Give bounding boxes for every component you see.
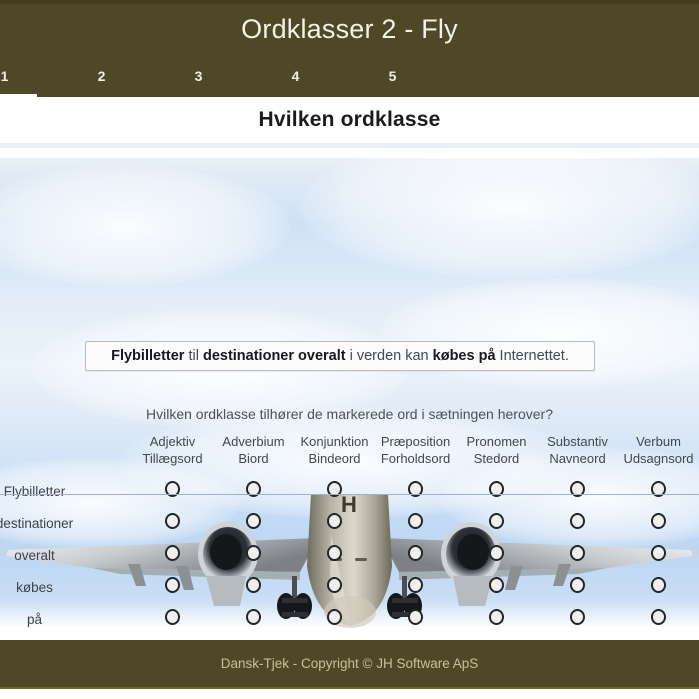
row-label-overalt: overalt — [0, 539, 132, 571]
radio-overalt-konjunktion[interactable] — [327, 545, 342, 561]
tab-3[interactable]: 3 — [150, 64, 247, 97]
radio-destinationer-substantiv[interactable] — [570, 513, 585, 529]
radio-destinationer-konjunktion[interactable] — [327, 513, 342, 529]
answer-cell[interactable] — [213, 571, 294, 603]
marked-word: destinationer overalt — [203, 348, 346, 364]
radio-købes-verbum[interactable] — [651, 577, 666, 593]
stage-bottom-strip — [0, 628, 699, 640]
answer-cell[interactable] — [375, 571, 456, 603]
answer-table-body: Flybilletterdestinationeroveraltkøbespå — [0, 475, 699, 628]
tab-2[interactable]: 2 — [53, 64, 150, 97]
column-header-danish: Tillægsord — [132, 450, 213, 467]
tab-1[interactable]: 1 — [0, 64, 53, 97]
tab-5[interactable]: 5 — [344, 64, 441, 97]
column-header-danish: Biord — [213, 450, 294, 467]
copyright-text: Dansk-Tjek - Copyright © JH Software ApS — [221, 656, 479, 671]
column-header-danish: Bindeord — [294, 450, 375, 467]
answer-cell[interactable] — [294, 571, 375, 603]
answer-cell[interactable] — [618, 539, 699, 571]
radio-destinationer-pronomen[interactable] — [489, 513, 504, 529]
column-header-adverbium: AdverbiumBiord — [213, 433, 294, 475]
radio-købes-substantiv[interactable] — [570, 577, 585, 593]
answer-table: AdjektivTillægsordAdverbiumBiordKonjunkt… — [0, 433, 699, 628]
answer-cell[interactable] — [537, 475, 618, 507]
column-header-konjunktion: KonjunktionBindeord — [294, 433, 375, 475]
answer-cell[interactable] — [213, 539, 294, 571]
matrix-bottom-rule — [0, 494, 699, 495]
column-header-latin: Verbum — [618, 433, 699, 450]
app-window: Ordklasser 2 - Fly 12345 Hvilken ordklas… — [0, 0, 699, 699]
cloud-decoration — [380, 278, 699, 388]
radio-destinationer-verbum[interactable] — [651, 513, 666, 529]
answer-cell[interactable] — [618, 603, 699, 628]
answer-cell[interactable] — [618, 475, 699, 507]
answer-cell[interactable] — [456, 539, 537, 571]
section-title: Hvilken ordklasse — [259, 108, 441, 132]
column-header-adjektiv: AdjektivTillægsord — [132, 433, 213, 475]
answer-cell[interactable] — [294, 475, 375, 507]
answer-cell[interactable] — [618, 507, 699, 539]
marked-word: købes på — [433, 348, 496, 364]
answer-table-head: AdjektivTillægsordAdverbiumBiordKonjunkt… — [0, 433, 699, 475]
tab-bar: 12345 — [0, 64, 441, 97]
answer-cell[interactable] — [537, 571, 618, 603]
radio-destinationer-præposition[interactable] — [408, 513, 423, 529]
answer-cell[interactable] — [456, 475, 537, 507]
radio-købes-konjunktion[interactable] — [327, 577, 342, 593]
column-header-verbum: VerbumUdsagnsord — [618, 433, 699, 475]
sentence-box: Flybilletter til destinationer overalt i… — [85, 341, 595, 371]
answer-matrix: AdjektivTillægsordAdverbiumBiordKonjunkt… — [0, 433, 699, 628]
answer-cell[interactable] — [375, 539, 456, 571]
column-header-latin: Adjektiv — [132, 433, 213, 450]
row-label-på: på — [0, 603, 132, 628]
tab-4[interactable]: 4 — [247, 64, 344, 97]
app-footer: Dansk-Tjek - Copyright © JH Software ApS — [0, 640, 699, 687]
row-label-købes: købes — [0, 571, 132, 603]
answer-cell[interactable] — [213, 603, 294, 628]
answer-cell[interactable] — [213, 475, 294, 507]
answer-cell[interactable] — [456, 571, 537, 603]
app-header: Ordklasser 2 - Fly 12345 — [0, 0, 699, 97]
column-header-latin: Adverbium — [213, 433, 294, 450]
radio-overalt-adverbium[interactable] — [246, 545, 261, 561]
cloud-decoration — [300, 158, 699, 278]
cloud-decoration — [0, 166, 290, 286]
answer-cell[interactable] — [132, 507, 213, 539]
page-title: Ordklasser 2 - Fly — [0, 14, 699, 45]
answer-row: købes — [0, 571, 699, 603]
header-gap — [0, 148, 699, 158]
column-header-danish: Navneord — [537, 450, 618, 467]
answer-cell[interactable] — [132, 539, 213, 571]
radio-købes-pronomen[interactable] — [489, 577, 504, 593]
radio-overalt-substantiv[interactable] — [570, 545, 585, 561]
answer-row: på — [0, 603, 699, 628]
radio-overalt-præposition[interactable] — [408, 545, 423, 561]
row-header-corner — [0, 433, 132, 475]
answer-cell[interactable] — [537, 539, 618, 571]
answer-row: destinationer — [0, 507, 699, 539]
footer-base-strip — [0, 687, 699, 699]
sentence-fragment: til — [184, 348, 203, 364]
radio-købes-præposition[interactable] — [408, 577, 423, 593]
question-text: Hvilken ordklasse tilhører de markerede … — [0, 406, 699, 422]
column-header-latin: Præposition — [375, 433, 456, 450]
radio-overalt-verbum[interactable] — [651, 545, 666, 561]
radio-på-pronomen[interactable] — [489, 609, 504, 625]
radio-destinationer-adverbium[interactable] — [246, 513, 261, 529]
column-header-latin: Pronomen — [456, 433, 537, 450]
answer-cell[interactable] — [132, 571, 213, 603]
radio-købes-adjektiv[interactable] — [165, 577, 180, 593]
answer-row: Flybilletter — [0, 475, 699, 507]
radio-på-konjunktion[interactable] — [327, 609, 342, 625]
exercise-stage: H Flybilletter til — [0, 158, 699, 628]
column-header-latin: Substantiv — [537, 433, 618, 450]
answer-cell[interactable] — [132, 603, 213, 628]
column-header-pronomen: PronomenStedord — [456, 433, 537, 475]
column-header-latin: Konjunktion — [294, 433, 375, 450]
column-header-præposition: PræpositionForholdsord — [375, 433, 456, 475]
row-label-flybilletter: Flybilletter — [0, 475, 132, 507]
column-header-substantiv: SubstantivNavneord — [537, 433, 618, 475]
answer-cell[interactable] — [375, 603, 456, 628]
answer-cell[interactable] — [294, 603, 375, 628]
answer-cell[interactable] — [618, 571, 699, 603]
column-header-danish: Forholdsord — [375, 450, 456, 467]
answer-cell[interactable] — [456, 603, 537, 628]
radio-på-verbum[interactable] — [651, 609, 666, 625]
answer-cell[interactable] — [456, 507, 537, 539]
sentence-text: Flybilletter til destinationer overalt i… — [111, 348, 569, 364]
answer-cell[interactable] — [294, 539, 375, 571]
column-header-danish: Udsagnsord — [618, 450, 699, 467]
answer-cell[interactable] — [213, 507, 294, 539]
radio-overalt-pronomen[interactable] — [489, 545, 504, 561]
sentence-fragment: i verden kan — [346, 348, 433, 364]
column-header-danish: Stedord — [456, 450, 537, 467]
radio-købes-adverbium[interactable] — [246, 577, 261, 593]
column-header-row: AdjektivTillægsordAdverbiumBiordKonjunkt… — [0, 433, 699, 475]
radio-på-adverbium[interactable] — [246, 609, 261, 625]
answer-cell[interactable] — [375, 507, 456, 539]
radio-på-præposition[interactable] — [408, 609, 423, 625]
answer-row: overalt — [0, 539, 699, 571]
radio-på-substantiv[interactable] — [570, 609, 585, 625]
section-header: Hvilken ordklasse — [0, 97, 699, 143]
row-label-destinationer: destinationer — [0, 507, 132, 539]
marked-word: Flybilletter — [111, 348, 184, 364]
radio-overalt-adjektiv[interactable] — [165, 545, 180, 561]
answer-cell[interactable] — [132, 475, 213, 507]
answer-cell[interactable] — [537, 603, 618, 628]
radio-destinationer-adjektiv[interactable] — [165, 513, 180, 529]
answer-cell[interactable] — [294, 507, 375, 539]
answer-cell[interactable] — [375, 475, 456, 507]
sentence-fragment: Internettet. — [496, 348, 569, 364]
radio-på-adjektiv[interactable] — [165, 609, 180, 625]
answer-cell[interactable] — [537, 507, 618, 539]
